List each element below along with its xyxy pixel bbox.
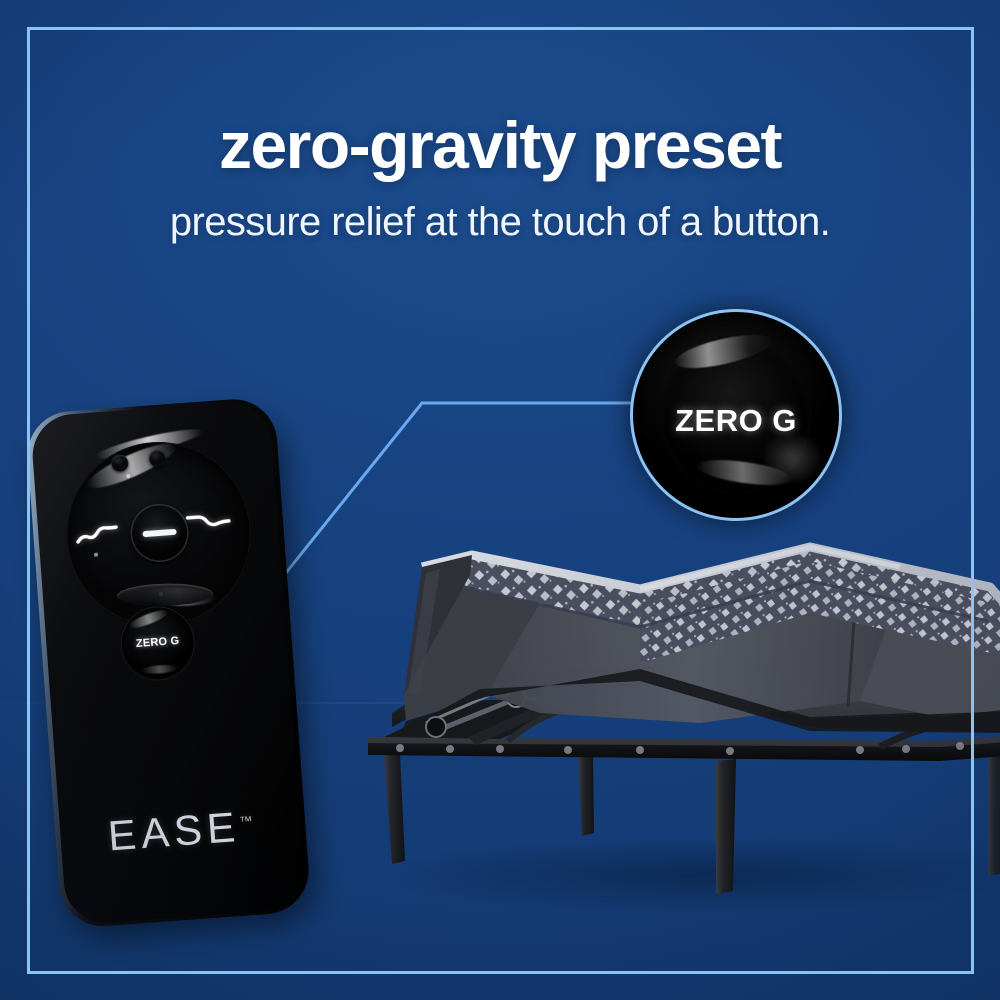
promo-image-canvas: ZERO G (0, 0, 1000, 1000)
adjustable-bed-base-with-mattress (340, 455, 1000, 935)
bed-leg (578, 755, 594, 836)
body-recline-right-icon[interactable] (185, 507, 232, 532)
page-subheadline: pressure relief at the touch of a button… (0, 202, 1000, 242)
page-headline: zero-gravity preset (0, 112, 1000, 178)
horizontal-dash-icon (142, 529, 176, 537)
remote-body: ZERO G EASE™ (30, 400, 307, 926)
bed-leg (988, 755, 1000, 876)
bed-leg (716, 759, 736, 894)
preset-button-2[interactable] (149, 449, 167, 467)
zoomed-zero-g-button-callout: ZERO G (630, 309, 842, 521)
center-flat-button[interactable] (129, 502, 191, 564)
body-recline-left-icon[interactable] (74, 523, 121, 548)
ease-brand-logo: EASE™ (59, 799, 302, 864)
bed-ground-shadow (370, 837, 1000, 913)
ease-brand-text: EASE (106, 803, 241, 860)
callout-zero-g-label: ZERO G (633, 403, 839, 439)
bed-leg (384, 753, 405, 864)
ease-remote-control: ZERO G EASE™ (25, 396, 312, 929)
callout-gloss-right (761, 431, 823, 485)
zero-g-button-glint-bottom (142, 664, 178, 674)
zero-g-button-label: ZERO G (120, 634, 195, 651)
disc-indicator-dot (94, 553, 98, 557)
trademark-symbol: ™ (239, 813, 253, 829)
